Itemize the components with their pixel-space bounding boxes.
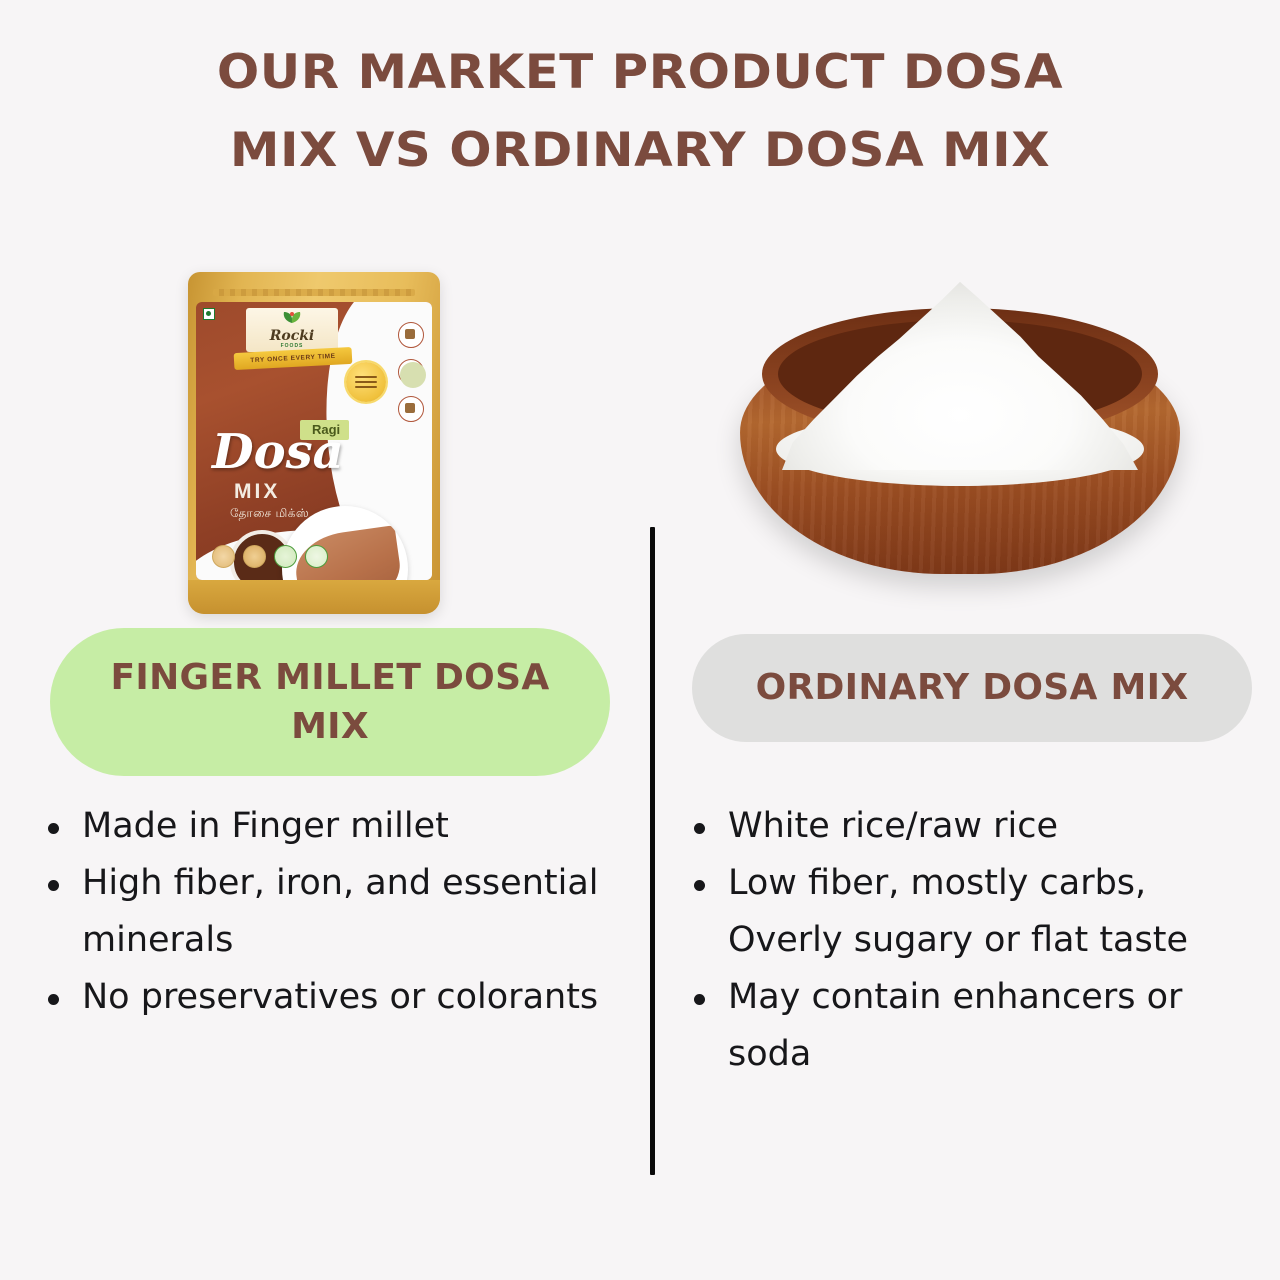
wooden-bowl-with-flour-icon xyxy=(740,308,1180,608)
list-item: White rice/raw rice xyxy=(680,798,1266,855)
vegetarian-mark-icon xyxy=(203,308,215,320)
product-type-text: MIX xyxy=(234,480,280,504)
certification-badge-2-icon xyxy=(243,545,266,568)
pouch-front-label: Rocki FOODS TRY ONCE EVERY TIME Ragi Dos… xyxy=(196,302,432,580)
pouch-bottom-gusset xyxy=(188,580,440,614)
certification-badge-3-icon xyxy=(274,545,297,568)
comparison-columns: Rocki FOODS TRY ONCE EVERY TIME Ragi Dos… xyxy=(0,240,1280,1280)
right-drawback-list: White rice/raw rice Low fiber, mostly ca… xyxy=(680,798,1266,1083)
certification-badges xyxy=(212,545,328,568)
list-item: No preservatives or colorants xyxy=(34,969,634,1026)
list-item: Low fiber, mostly carbs, Overly sugary o… xyxy=(680,855,1266,969)
right-product-image xyxy=(640,240,1280,628)
list-item: May contain enhancers or soda xyxy=(680,969,1266,1083)
product-name-text: Dosa xyxy=(212,428,344,476)
left-category-pill-line-1: FINGER MILLET DOSA xyxy=(111,653,550,702)
certification-badge-4-icon xyxy=(305,545,328,568)
chutney-dot-image xyxy=(400,362,426,388)
left-benefit-list: Made in Finger millet High fiber, iron, … xyxy=(34,798,634,1026)
ragi-dosa-mix-pouch-icon: Rocki FOODS TRY ONCE EVERY TIME Ragi Dos… xyxy=(188,272,440,614)
brand-name: Rocki xyxy=(246,329,338,343)
list-item: High fiber, iron, and essential minerals xyxy=(34,855,634,969)
product-name-tamil: தோசை மிக்ஸ் xyxy=(230,506,309,522)
leaf-icon xyxy=(282,311,302,324)
feature-icon-1 xyxy=(398,322,424,348)
feature-icon-3 xyxy=(398,396,424,422)
left-product-image: Rocki FOODS TRY ONCE EVERY TIME Ragi Dos… xyxy=(0,240,640,628)
brand-logo: Rocki FOODS xyxy=(246,308,338,352)
right-category-pill: ORDINARY DOSA MIX xyxy=(692,634,1252,742)
page-title-line-2: MIX VS ORDINARY DOSA MIX xyxy=(0,112,1280,190)
left-category-pill: FINGER MILLET DOSA MIX xyxy=(50,628,610,776)
pouch-zip-seal xyxy=(213,289,415,296)
list-item: Made in Finger millet xyxy=(34,798,634,855)
left-column: Rocki FOODS TRY ONCE EVERY TIME Ragi Dos… xyxy=(0,240,640,1280)
gold-seal-icon xyxy=(346,362,386,402)
page-title-line-1: OUR MARKET PRODUCT DOSA xyxy=(0,34,1280,112)
right-column: ORDINARY DOSA MIX White rice/raw rice Lo… xyxy=(640,240,1280,1280)
left-category-pill-line-2: MIX xyxy=(111,702,550,751)
certification-badge-1-icon xyxy=(212,545,235,568)
page-title: OUR MARKET PRODUCT DOSA MIX VS ORDINARY … xyxy=(0,34,1280,190)
